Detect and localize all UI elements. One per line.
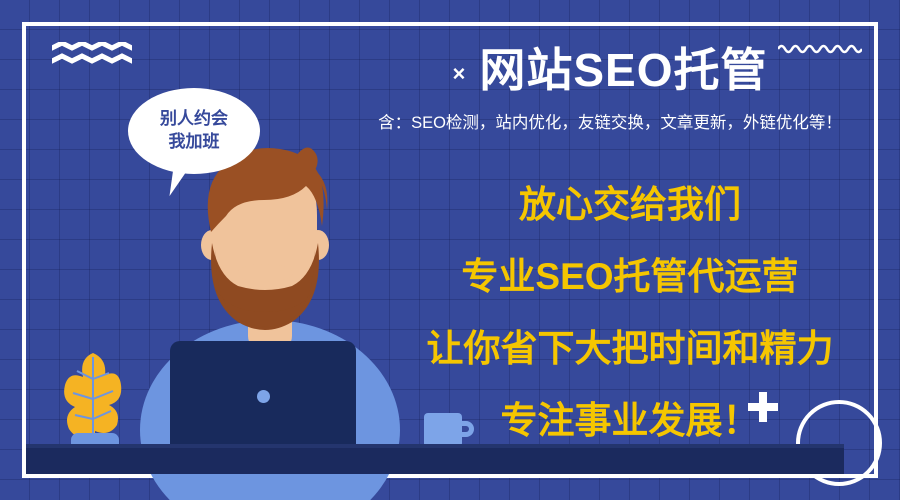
speech-bubble-line-1: 别人约会 <box>160 108 228 131</box>
slogan-line-1: 放心交给我们 <box>400 186 860 223</box>
headline-block: × 网站SEO托管 含：SEO检测，站内优化，友链交换，文章更新，外链优化等！ <box>330 44 890 133</box>
page-subtitle: 含：SEO检测，站内优化，友链交换，文章更新，外链优化等！ <box>330 109 890 133</box>
slogan-line-3: 让你省下大把时间和精力 <box>400 330 860 367</box>
slogan-list: 放心交给我们 专业SEO托管代运营 让你省下大把时间和精力 专注事业发展！ <box>400 186 860 439</box>
wave-lines-icon <box>52 42 132 68</box>
desk-surface <box>26 448 844 474</box>
speech-bubble-line-2: 我加班 <box>169 131 220 154</box>
speech-bubble: 别人约会 我加班 <box>128 88 260 174</box>
laptop-logo-icon <box>257 390 270 403</box>
laptop-icon <box>170 341 356 451</box>
slogan-line-2: 专业SEO托管代运营 <box>400 258 860 295</box>
seo-banner: 别人约会 我加班 × 网站SEO托管 含：SEO检测，站内优化，友链交换，文章更… <box>0 0 900 500</box>
page-title: 网站SEO托管 <box>479 44 767 97</box>
potted-plant-icon <box>55 345 135 460</box>
title-row: × 网站SEO托管 <box>330 44 890 97</box>
title-bullet-icon: × <box>452 63 465 85</box>
